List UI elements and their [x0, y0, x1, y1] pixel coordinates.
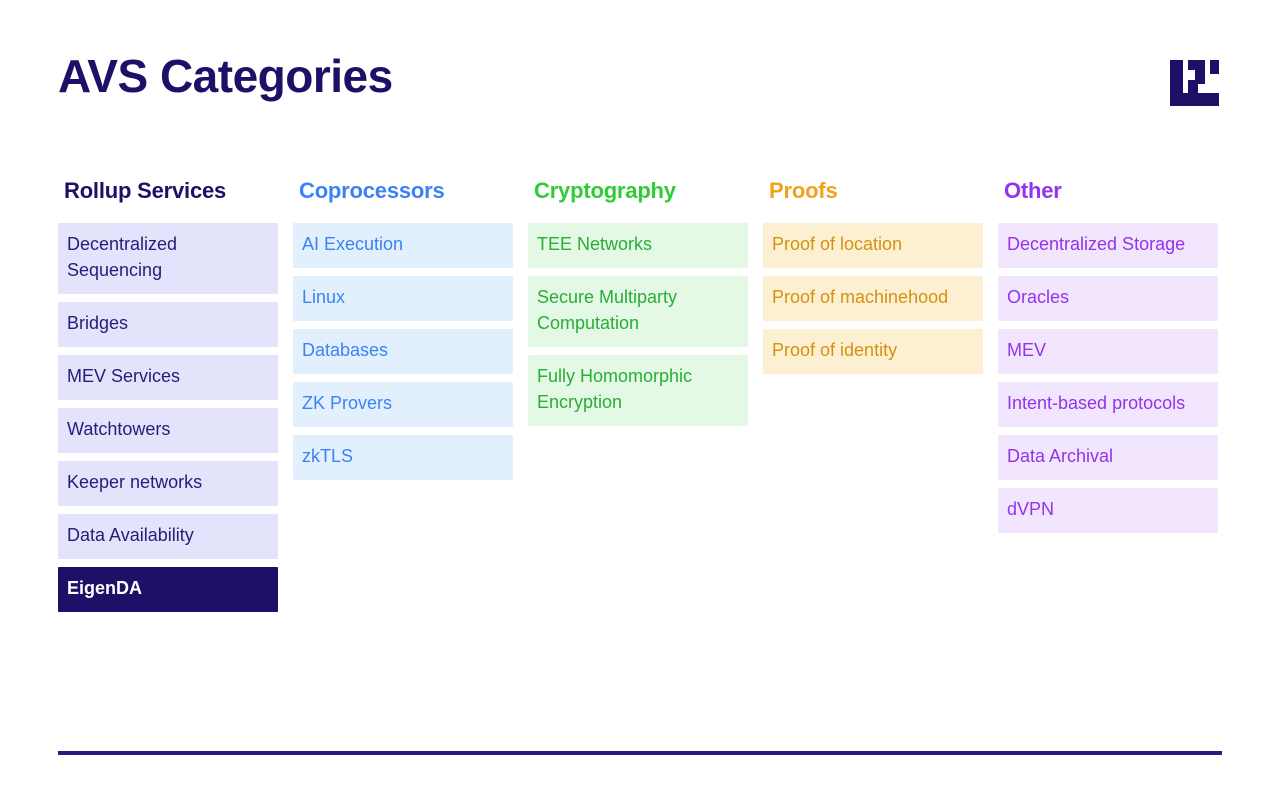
- category-card[interactable]: TEE Networks: [528, 223, 748, 268]
- category-card[interactable]: Proof of machinehood: [763, 276, 983, 321]
- category-card[interactable]: Bridges: [58, 302, 278, 347]
- category-card[interactable]: dVPN: [998, 488, 1218, 533]
- category-card[interactable]: Databases: [293, 329, 513, 374]
- eigenlayer-logo-icon: [1168, 56, 1222, 110]
- category-card[interactable]: Keeper networks: [58, 461, 278, 506]
- category-column-rollup-services: Rollup ServicesDecentralized SequencingB…: [58, 178, 278, 620]
- category-card[interactable]: MEV Services: [58, 355, 278, 400]
- category-columns: Rollup ServicesDecentralized SequencingB…: [58, 178, 1222, 620]
- category-card[interactable]: Data Archival: [998, 435, 1218, 480]
- category-card[interactable]: Watchtowers: [58, 408, 278, 453]
- category-card[interactable]: Fully Homomorphic Encryption: [528, 355, 748, 426]
- category-card[interactable]: Decentralized Storage: [998, 223, 1218, 268]
- column-header-rollup-services: Rollup Services: [64, 178, 278, 204]
- category-column-proofs: ProofsProof of locationProof of machineh…: [763, 178, 983, 620]
- page-title: AVS Categories: [58, 48, 393, 106]
- column-header-other: Other: [1004, 178, 1218, 204]
- category-card-highlighted[interactable]: EigenDA: [58, 567, 278, 612]
- category-column-cryptography: CryptographyTEE NetworksSecure Multipart…: [528, 178, 748, 620]
- category-card[interactable]: MEV: [998, 329, 1218, 374]
- category-column-other: OtherDecentralized StorageOraclesMEVInte…: [998, 178, 1218, 620]
- footer-divider: [58, 751, 1222, 755]
- category-card[interactable]: Oracles: [998, 276, 1218, 321]
- column-header-coprocessors: Coprocessors: [299, 178, 513, 204]
- slide-canvas: AVS Categories Rollup ServicesDecentrali…: [0, 0, 1280, 800]
- category-card[interactable]: Decentralized Sequencing: [58, 223, 278, 294]
- category-card[interactable]: Proof of identity: [763, 329, 983, 374]
- category-card[interactable]: Data Availability: [58, 514, 278, 559]
- category-card[interactable]: ZK Provers: [293, 382, 513, 427]
- category-column-coprocessors: CoprocessorsAI ExecutionLinuxDatabasesZK…: [293, 178, 513, 620]
- category-card[interactable]: Intent-based protocols: [998, 382, 1218, 427]
- category-card[interactable]: Proof of location: [763, 223, 983, 268]
- category-card[interactable]: Linux: [293, 276, 513, 321]
- category-card[interactable]: Secure Multiparty Computation: [528, 276, 748, 347]
- column-header-proofs: Proofs: [769, 178, 983, 204]
- column-header-cryptography: Cryptography: [534, 178, 748, 204]
- category-card[interactable]: AI Execution: [293, 223, 513, 268]
- category-card[interactable]: zkTLS: [293, 435, 513, 480]
- slide-header: AVS Categories: [58, 48, 1222, 128]
